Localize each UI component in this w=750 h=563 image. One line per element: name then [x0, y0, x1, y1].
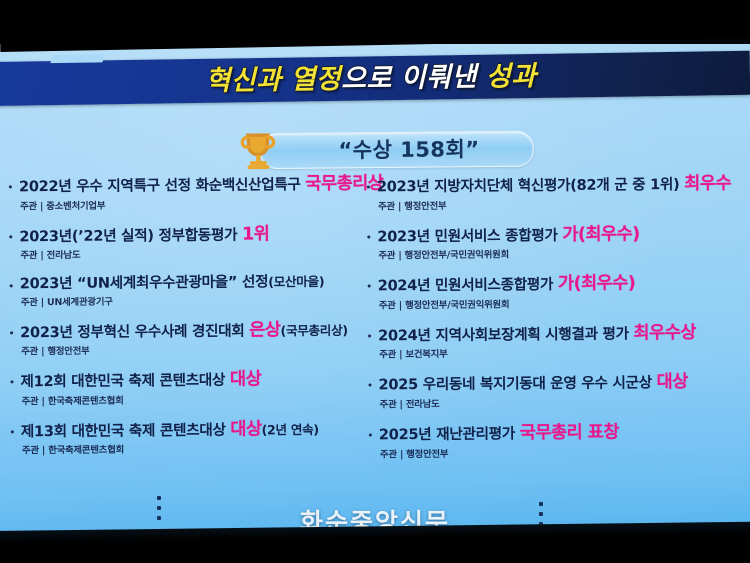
award-text: 2023년(’22년 실적) 정부합동평가 1위 [19, 224, 365, 246]
award-prize: 1위 [242, 224, 269, 244]
bullet-icon [367, 185, 370, 188]
award-prize: 대상 [230, 370, 261, 390]
list-item: 2025년 재난관리평가 국무총리 표창 주관 | 행정안전부 [367, 422, 749, 460]
award-organizer: 주관 | 전라남도 [379, 393, 749, 410]
title-word-5: 성과 [486, 62, 537, 90]
award-organizer: 주관 | 행정안전부 [377, 195, 747, 212]
award-title: 2024년 지역사회보장계획 시행결과 평가 [378, 325, 629, 344]
award-text: 2022년 우수 지역특구 선정 화순백신산업특구 국무총리상 [19, 175, 365, 197]
award-prize: 최우수 [684, 174, 731, 194]
award-list-right: 2023년 지방자치단체 혁신평가(82개 군 중 1위) 최우수 주관 | 행… [365, 175, 749, 476]
award-text: 2023년 정부혁신 우수사례 경진대회 은상(국무총리상) [20, 320, 366, 342]
bullet-icon [10, 285, 13, 288]
award-note: (국무총리상) [280, 322, 347, 338]
award-title: 제12회 대한민국 축제 콘텐츠대상 [20, 372, 225, 391]
bullet-icon [9, 185, 12, 188]
award-note: (2년 연속) [261, 422, 318, 437]
award-title: 2023년 정부혁신 우수사례 경진대회 [20, 322, 245, 341]
award-text: 2024년 지역사회보장계획 시행결과 평가 최우수상 [378, 323, 748, 345]
award-title: 2022년 우수 지역특구 선정 화순백신산업특구 [19, 176, 301, 195]
title-word-1: 혁신과 [205, 66, 290, 94]
award-organizer: 주관 | 행정안전부/국민권익위원회 [378, 294, 748, 311]
list-item: 2023년 정부혁신 우수사례 경진대회 은상(국무총리상) 주관 | 행정안전… [8, 320, 366, 357]
list-item: 2024년 민원서비스종합평가 가(최우수) 주관 | 행정안전부/국민권익위원… [366, 274, 748, 312]
award-prize: 가(최우수) [562, 224, 640, 245]
award-organizer: 주관 | 한국축제콘텐츠협회 [21, 440, 367, 457]
list-item: 2023년 지방자치단체 혁신평가(82개 군 중 1위) 최우수 주관 | 행… [365, 175, 747, 213]
list-item: 2025 우리동네 복지기동대 운영 우수 시군상 대상 주관 | 전라남도 [366, 373, 748, 411]
award-count-label: “수상 158회” [260, 131, 532, 167]
award-prize: 은상 [249, 320, 280, 340]
award-note: (모산마을) [268, 274, 324, 289]
award-title: 2023년 “UN세계최우수관광마을” 선정 [20, 274, 269, 293]
award-text: 2023년 “UN세계최우수관광마을” 선정(모산마을) [20, 274, 366, 293]
award-list-left: 2022년 우수 지역특구 선정 화순백신산업특구 국무총리상 주관 | 중소벤… [7, 175, 367, 472]
award-text: 2024년 민원서비스종합평가 가(최우수) [378, 274, 748, 296]
title-word-3: 으로 [341, 64, 401, 92]
award-title: 2025년 재난관리평가 [379, 425, 515, 443]
bullet-icon [9, 235, 12, 238]
award-prize: 국무총리 표창 [520, 422, 619, 443]
bullet-icon [368, 384, 371, 387]
award-count-badge: “수상 158회” [236, 129, 536, 172]
award-text: 제12회 대한민국 축제 콘텐츠대상 대상 [20, 370, 366, 392]
list-item: 2024년 지역사회보장계획 시행결과 평가 최우수상 주관 | 보건복지부 [366, 323, 748, 361]
slide-title-banner: 혁신과 열정 으로 이뤄낸 성과 [0, 51, 750, 106]
bullet-icon [367, 235, 370, 238]
photo-of-presentation-screen: 혁신과 열정 으로 이뤄낸 성과 “수상 158회” [0, 0, 750, 563]
list-item: 2023년(’22년 실적) 정부합동평가 1위 주관 | 전라남도 [7, 224, 365, 261]
award-text: 2023년 지방자치단체 혁신평가(82개 군 중 1위) 최우수 [377, 175, 747, 197]
award-prize: 가(최우수) [558, 274, 636, 295]
award-organizer: 주관 | 보건복지부 [378, 344, 748, 361]
award-prize: 대상 [230, 419, 261, 439]
award-prize: 대상 [657, 372, 688, 392]
title-word-4: 이뤄낸 [401, 63, 486, 91]
award-organizer: 주관 | 행정안전부 [379, 443, 749, 460]
bullet-icon [368, 334, 371, 337]
award-text: 2023년 민원서비스 종합평가 가(최우수) [377, 224, 747, 246]
award-prize: 최우수상 [633, 323, 696, 343]
list-item: 2023년 “UN세계최우수관광마을” 선정(모산마을) 주관 | UN세계관광… [8, 274, 366, 308]
page-title: 혁신과 열정 으로 이뤄낸 성과 [0, 51, 750, 106]
award-title: 2023년 민원서비스 종합평가 [377, 227, 557, 245]
list-item: 제12회 대한민국 축제 콘텐츠대상 대상 주관 | 한국축제콘텐츠협회 [8, 370, 366, 407]
slide-canvas: 혁신과 열정 으로 이뤄낸 성과 “수상 158회” [0, 36, 750, 536]
award-organizer: 주관 | 중소벤처기업부 [19, 195, 365, 212]
bullet-icon [369, 433, 372, 436]
award-text: 2025년 재난관리평가 국무총리 표창 [379, 422, 749, 444]
award-title: 2023년 지방자치단체 혁신평가(82개 군 중 1위) [377, 176, 680, 195]
award-organizer: 주관 | 행정안전부 [20, 341, 366, 358]
list-item: 제13회 대한민국 축제 콘텐츠대상 대상(2년 연속) 주관 | 한국축제콘텐… [9, 419, 367, 456]
award-text: 제13회 대한민국 축제 콘텐츠대상 대상(2년 연속) [21, 419, 367, 441]
award-title: 2023년(’22년 실적) 정부합동평가 [19, 226, 237, 245]
award-organizer: 주관 | 행정안전부/국민권익위원회 [377, 245, 747, 262]
bullet-icon [10, 380, 13, 383]
award-text: 2025 우리동네 복지기동대 운영 우수 시군상 대상 [378, 373, 748, 395]
ellipsis-dot [157, 496, 161, 500]
bullet-icon [10, 331, 13, 334]
award-title: 제13회 대한민국 축제 콘텐츠대상 [21, 421, 226, 440]
title-word-2: 열정 [290, 65, 341, 93]
award-organizer: 주관 | 한국축제콘텐츠협회 [21, 390, 367, 407]
bullet-icon [11, 430, 14, 433]
bullet-icon [368, 285, 371, 288]
award-title: 2024년 민원서비스종합평가 [378, 276, 554, 294]
award-organizer: 주관 | 전라남도 [19, 245, 365, 262]
award-title: 2025 우리동네 복지기동대 운영 우수 시군상 [378, 375, 651, 394]
list-item: 2023년 민원서비스 종합평가 가(최우수) 주관 | 행정안전부/국민권익위… [365, 224, 747, 262]
list-item: 2022년 우수 지역특구 선정 화순백신산업특구 국무총리상 주관 | 중소벤… [7, 175, 365, 212]
award-organizer: 주관 | UN세계관광기구 [20, 291, 366, 308]
